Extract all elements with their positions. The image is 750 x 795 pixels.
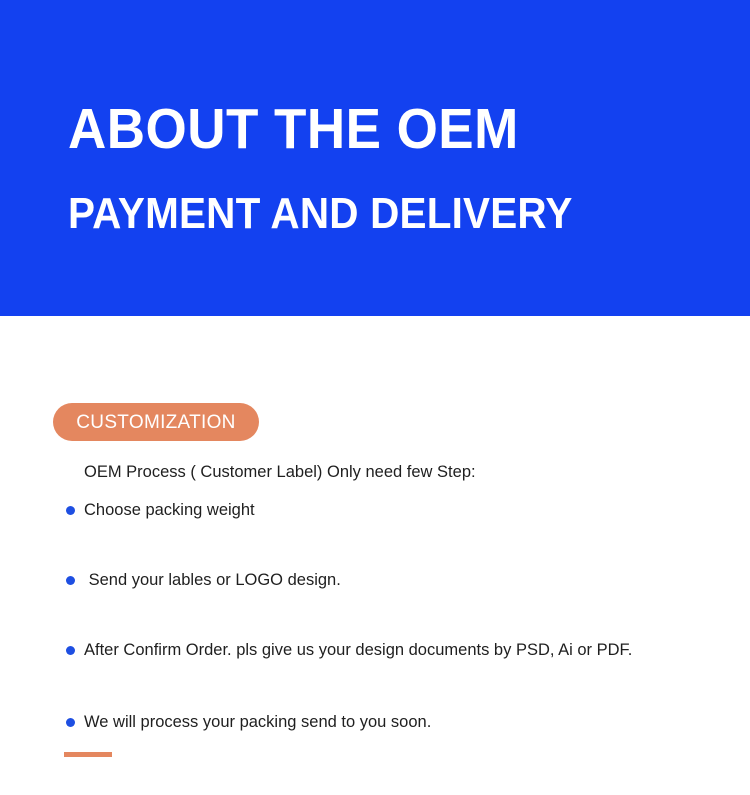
- bullet-dot-icon: [66, 576, 75, 585]
- status-badge-label: CUSTOMIZATION: [76, 413, 235, 432]
- page-subtitle: PAYMENT AND DELIVERY: [68, 192, 573, 236]
- status-badge: CUSTOMIZATION: [53, 403, 259, 441]
- page-title: ABOUT THE OEM: [68, 101, 519, 158]
- bullet-dot-icon: [66, 506, 75, 515]
- list-item-label: Send your lables or LOGO design.: [84, 570, 341, 591]
- list-item: Send your lables or LOGO design.: [66, 570, 341, 591]
- list-item-label: After Confirm Order. pls give us your de…: [84, 640, 632, 661]
- intro-text: OEM Process ( Customer Label) Only need …: [84, 462, 476, 483]
- list-item: After Confirm Order. pls give us your de…: [66, 640, 632, 661]
- content-area: CUSTOMIZATION OEM Process ( Customer Lab…: [0, 316, 750, 795]
- hero-banner: ABOUT THE OEM PAYMENT AND DELIVERY: [0, 0, 750, 316]
- list-item: Choose packing weight: [66, 500, 255, 521]
- oem-info-page: ABOUT THE OEM PAYMENT AND DELIVERY CUSTO…: [0, 0, 750, 795]
- list-item-label: We will process your packing send to you…: [84, 712, 431, 733]
- list-item: We will process your packing send to you…: [66, 712, 431, 733]
- bullet-dot-icon: [66, 718, 75, 727]
- list-item-label: Choose packing weight: [84, 500, 255, 521]
- section-divider: [64, 752, 112, 757]
- bullet-dot-icon: [66, 646, 75, 655]
